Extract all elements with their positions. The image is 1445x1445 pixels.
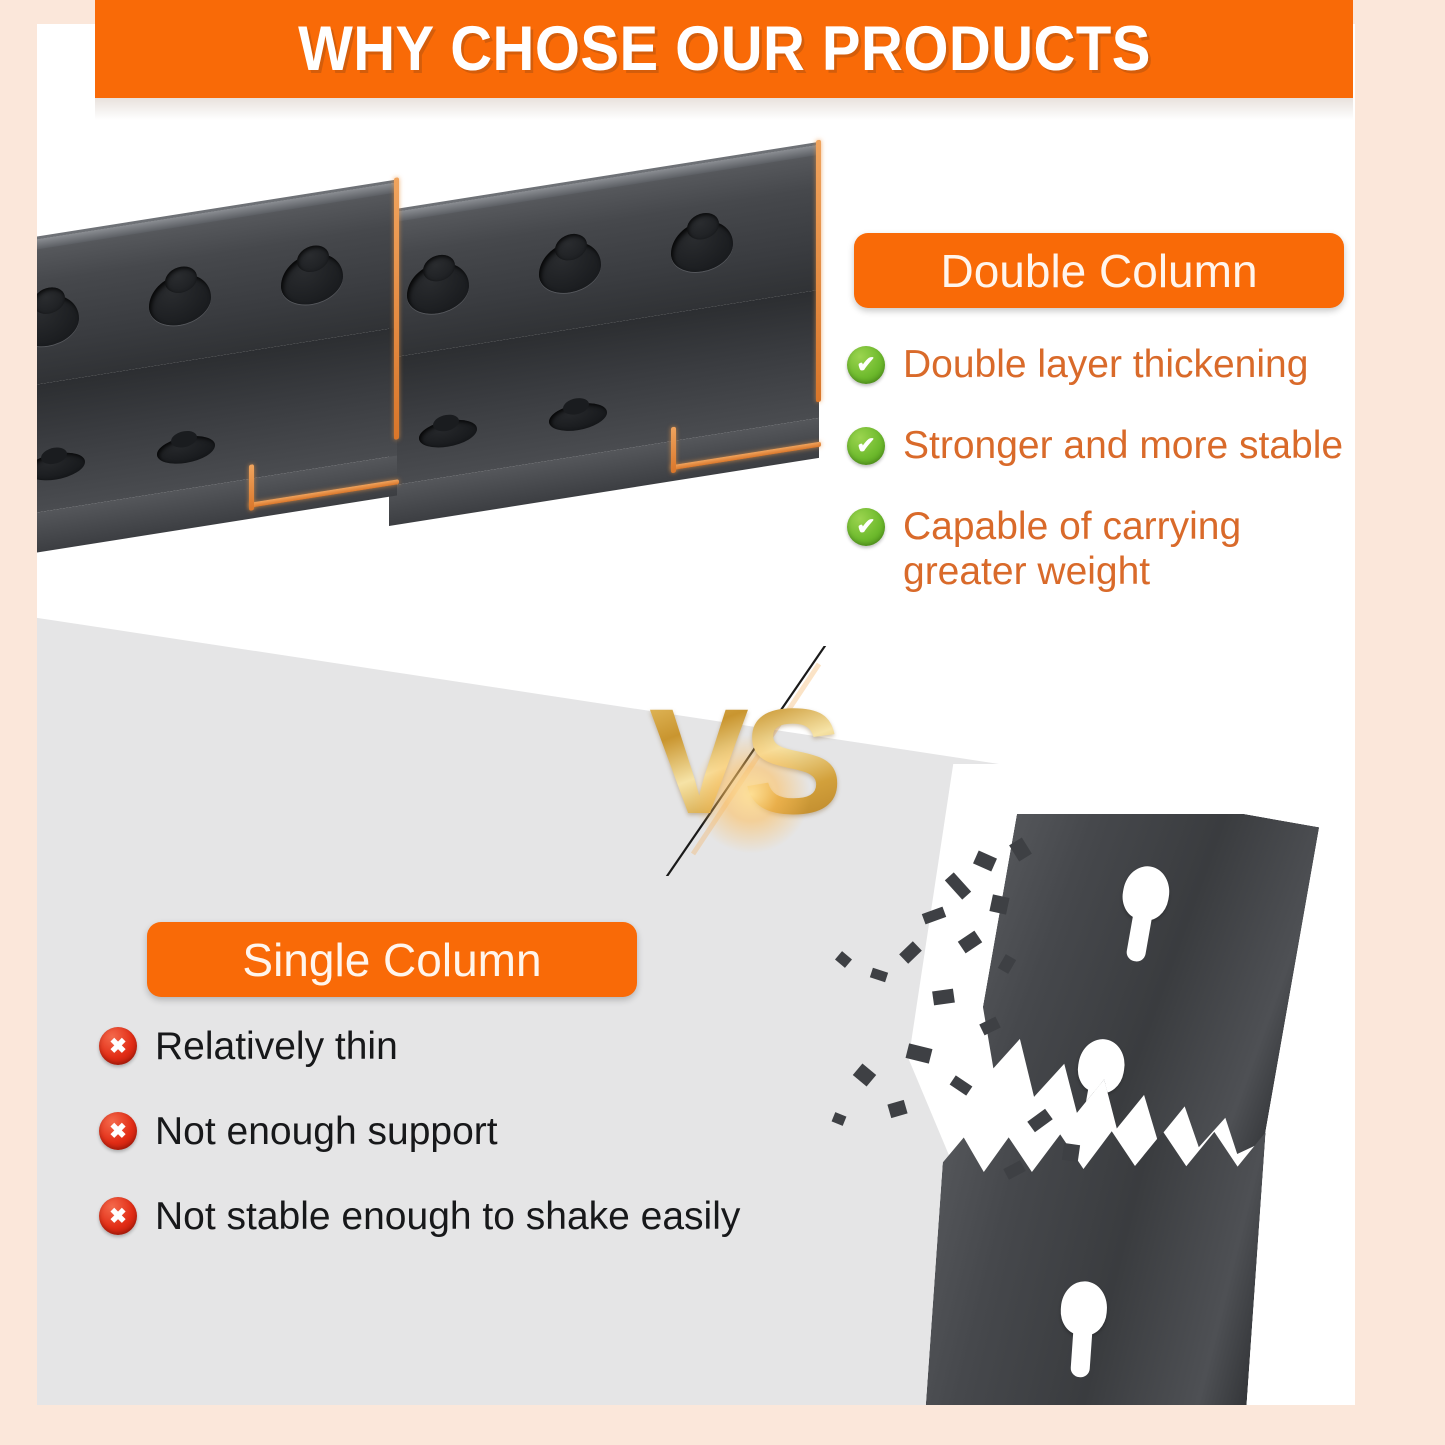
debris-shard	[1027, 1109, 1052, 1132]
keyhole-slot-small	[157, 432, 215, 467]
debris-shard	[887, 1100, 907, 1118]
check-glyph: ✔	[856, 353, 875, 376]
single-column-badge-label: Single Column	[242, 933, 541, 987]
page-title: WHY CHOSE OUR PRODUCTS	[298, 13, 1151, 85]
double-column-rails-photo	[37, 134, 827, 604]
list-item-label: Not enough support	[155, 1109, 498, 1154]
broken-single-column-photo	[815, 814, 1355, 1405]
debris-shard	[973, 851, 997, 872]
debris-shard	[922, 907, 946, 925]
infographic-frame: VS Double Column ✔ Double layer thickeni…	[0, 0, 1445, 1445]
content-panel: VS Double Column ✔ Double layer thickeni…	[37, 24, 1355, 1405]
debris-shard	[950, 1075, 973, 1095]
list-item-label: Not stable enough to shake easily	[155, 1194, 740, 1239]
list-item-label-multiline: Capable of carrying greater weight	[903, 504, 1241, 594]
debris-shard	[870, 968, 888, 982]
copper-edge-highlight	[671, 427, 676, 474]
double-column-benefits-list: ✔ Double layer thickening ✔ Stronger and…	[847, 342, 1347, 630]
keyhole-slot	[281, 249, 343, 309]
check-circle-icon: ✔	[847, 427, 885, 465]
debris-shard	[1062, 1143, 1080, 1162]
keyhole-slot-small	[37, 449, 85, 484]
broken-post-lower-fragment	[924, 1103, 1266, 1405]
list-item-label: Double layer thickening	[903, 342, 1308, 387]
list-item: ✖ Relatively thin	[99, 1024, 879, 1069]
steel-rail-back	[389, 142, 819, 540]
cross-glyph: ✖	[109, 1036, 127, 1057]
debris-shard	[906, 1043, 933, 1063]
list-item-label-line1: Capable of carrying	[903, 504, 1241, 549]
keyhole-slot	[149, 270, 211, 330]
debris-shard	[835, 951, 852, 968]
single-column-badge: Single Column	[147, 922, 637, 997]
keyhole-slot	[1119, 863, 1174, 924]
keyhole-slot-small	[419, 416, 477, 451]
header-banner: WHY CHOSE OUR PRODUCTS	[95, 0, 1353, 98]
x-circle-icon: ✖	[99, 1112, 137, 1150]
debris-shard	[932, 989, 955, 1006]
debris-shard	[989, 894, 1009, 914]
keyhole-slot	[671, 217, 733, 277]
keyhole-slot	[1074, 1035, 1129, 1096]
list-item: ✔ Stronger and more stable	[847, 423, 1347, 468]
x-circle-icon: ✖	[99, 1027, 137, 1065]
double-column-badge-label: Double Column	[940, 244, 1257, 298]
debris-shard	[945, 872, 971, 899]
cross-glyph: ✖	[109, 1121, 127, 1142]
versus-label: VS	[633, 646, 853, 876]
versus-badge: VS	[633, 646, 853, 876]
check-glyph: ✔	[856, 515, 875, 538]
check-circle-icon: ✔	[847, 346, 885, 384]
keyhole-slot	[1059, 1280, 1109, 1337]
list-item: ✖ Not enough support	[99, 1109, 879, 1154]
double-column-badge: Double Column	[854, 233, 1344, 308]
copper-edge-highlight	[394, 177, 399, 440]
check-circle-icon: ✔	[847, 508, 885, 546]
debris-shard	[899, 941, 922, 964]
steel-rail-front	[37, 179, 397, 576]
list-item-label-line2: greater weight	[903, 549, 1241, 594]
copper-edge-highlight	[249, 464, 254, 511]
list-item: ✔ Double layer thickening	[847, 342, 1347, 387]
single-column-drawbacks-list: ✖ Relatively thin ✖ Not enough support ✖…	[99, 1024, 879, 1279]
list-item-label: Relatively thin	[155, 1024, 398, 1069]
keyhole-slot-small	[549, 399, 607, 434]
debris-shard	[958, 931, 982, 954]
cross-glyph: ✖	[109, 1206, 127, 1227]
list-item: ✖ Not stable enough to shake easily	[99, 1194, 879, 1239]
list-item: ✔ Capable of carrying greater weight	[847, 504, 1347, 594]
list-item-label: Stronger and more stable	[903, 423, 1343, 468]
keyhole-slot	[37, 291, 79, 351]
keyhole-slot	[539, 237, 601, 297]
keyhole-slot	[407, 258, 469, 318]
x-circle-icon: ✖	[99, 1197, 137, 1235]
copper-edge-highlight	[816, 140, 821, 403]
check-glyph: ✔	[856, 434, 875, 457]
